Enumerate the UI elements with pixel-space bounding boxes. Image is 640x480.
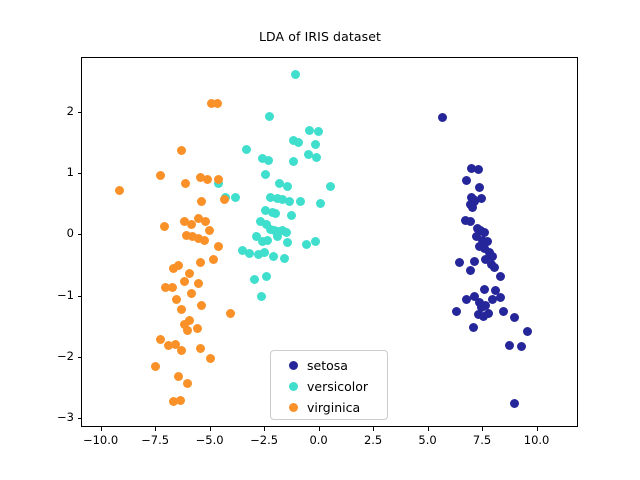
data-point-versicolor: [291, 70, 300, 79]
x-tick-label: 0.0: [289, 433, 349, 447]
data-point-virginica: [151, 362, 160, 371]
data-point-virginica: [187, 289, 196, 298]
data-point-setosa: [469, 323, 478, 332]
data-point-virginica: [174, 372, 183, 381]
y-tick-label: −3: [34, 410, 74, 424]
data-point-virginica: [226, 309, 235, 318]
data-point-virginica: [180, 277, 189, 286]
data-point-versicolor: [261, 170, 270, 179]
legend-box[interactable]: setosaversicolorvirginica: [270, 350, 388, 420]
data-point-virginica: [209, 255, 218, 264]
data-point-virginica: [183, 326, 192, 335]
data-point-virginica: [168, 283, 177, 292]
data-point-setosa: [438, 113, 447, 122]
data-point-versicolor: [282, 228, 291, 237]
y-tick-mark: [78, 357, 82, 358]
legend-marker-setosa: [289, 361, 298, 370]
x-tick-mark: [373, 427, 374, 431]
data-point-versicolor: [283, 182, 292, 191]
data-point-virginica: [197, 197, 206, 206]
data-point-setosa: [462, 176, 471, 185]
data-point-versicolor: [242, 145, 251, 154]
data-point-virginica: [115, 186, 124, 195]
data-point-setosa: [475, 183, 484, 192]
data-point-versicolor: [231, 193, 240, 202]
x-tick-label: −10.0: [71, 433, 131, 447]
data-point-versicolor: [283, 238, 292, 247]
data-point-versicolor: [311, 237, 320, 246]
y-tick-label: −1: [34, 288, 74, 302]
data-point-virginica: [177, 146, 186, 155]
data-point-virginica: [185, 269, 194, 278]
legend-item-virginica[interactable]: virginica: [279, 397, 379, 418]
y-tick-label: −2: [34, 349, 74, 363]
data-point-versicolor: [250, 275, 259, 284]
data-point-setosa: [474, 165, 483, 174]
data-point-versicolor: [314, 127, 323, 136]
x-tick-label: −7.5: [125, 433, 185, 447]
data-point-versicolor: [316, 199, 325, 208]
y-tick-mark: [78, 296, 82, 297]
x-tick-mark: [537, 427, 538, 431]
data-point-versicolor: [326, 182, 335, 191]
y-axis-ticks: −3−2−1012: [30, 0, 74, 480]
data-point-versicolor: [289, 157, 298, 166]
data-point-versicolor: [273, 232, 282, 241]
legend-item-setosa[interactable]: setosa: [279, 355, 379, 376]
data-point-versicolor: [287, 211, 296, 220]
x-tick-label: −2.5: [234, 433, 294, 447]
data-point-setosa: [466, 266, 475, 275]
x-tick-label: 5.0: [398, 433, 458, 447]
data-point-virginica: [164, 341, 173, 350]
matplotlib-figure: LDA of IRIS dataset −10.0−7.5−5.0−2.50.0…: [0, 0, 640, 480]
data-point-virginica: [160, 222, 169, 231]
legend-label-setosa: setosa: [307, 358, 348, 373]
x-tick-label: 10.0: [507, 433, 567, 447]
data-point-setosa: [496, 293, 505, 302]
x-tick-mark: [482, 427, 483, 431]
data-point-virginica: [214, 175, 223, 184]
data-point-setosa: [484, 309, 493, 318]
data-point-versicolor: [311, 140, 320, 149]
x-tick-label: 7.5: [452, 433, 512, 447]
data-point-setosa: [470, 257, 479, 266]
data-point-virginica: [172, 295, 181, 304]
x-tick-label: 2.5: [343, 433, 403, 447]
data-point-virginica: [177, 346, 186, 355]
data-point-versicolor: [262, 272, 271, 281]
legend-marker-virginica: [289, 403, 298, 412]
data-point-versicolor: [302, 240, 311, 249]
data-point-versicolor: [280, 254, 289, 263]
data-point-virginica: [203, 175, 212, 184]
y-tick-label: 0: [34, 226, 74, 240]
legend-marker-cell: [279, 361, 307, 370]
legend-marker-cell: [279, 403, 307, 412]
data-point-versicolor: [263, 236, 272, 245]
data-point-setosa: [510, 313, 519, 322]
data-point-virginica: [206, 354, 215, 363]
data-point-setosa: [505, 341, 514, 350]
data-point-virginica: [194, 279, 203, 288]
data-point-versicolor: [312, 153, 321, 162]
y-tick-label: 1: [34, 165, 74, 179]
x-tick-mark: [428, 427, 429, 431]
data-point-setosa: [480, 285, 489, 294]
data-point-virginica: [183, 379, 192, 388]
x-tick-mark: [264, 427, 265, 431]
data-point-setosa: [517, 342, 526, 351]
data-point-versicolor: [269, 252, 278, 261]
data-point-virginica: [177, 305, 186, 314]
data-point-versicolor: [296, 197, 305, 206]
data-point-versicolor: [305, 126, 314, 135]
y-tick-label: 2: [34, 104, 74, 118]
page-title: LDA of IRIS dataset: [0, 29, 640, 44]
data-point-virginica: [214, 242, 223, 251]
legend-label-virginica: virginica: [307, 400, 360, 415]
data-point-setosa: [523, 327, 532, 336]
data-point-virginica: [181, 179, 190, 188]
data-point-versicolor: [285, 197, 294, 206]
data-point-versicolor: [260, 248, 269, 257]
data-point-setosa: [490, 263, 499, 272]
data-point-versicolor: [257, 292, 266, 301]
y-tick-mark: [78, 173, 82, 174]
data-point-versicolor: [264, 156, 273, 165]
data-point-versicolor: [245, 249, 254, 258]
legend-items: setosaversicolorvirginica: [271, 351, 387, 418]
data-point-setosa: [468, 203, 477, 212]
legend-marker-versicolor: [289, 382, 298, 391]
data-point-virginica: [200, 236, 209, 245]
data-point-versicolor: [265, 112, 274, 121]
data-point-virginica: [156, 171, 165, 180]
data-point-setosa: [499, 307, 508, 316]
data-point-setosa: [510, 399, 519, 408]
y-tick-mark: [78, 234, 82, 235]
data-point-virginica: [169, 264, 178, 273]
legend-marker-cell: [279, 382, 307, 391]
data-point-setosa: [452, 307, 461, 316]
x-tick-mark: [101, 427, 102, 431]
data-point-virginica: [197, 301, 206, 310]
y-tick-mark: [78, 418, 82, 419]
legend-label-versicolor: versicolor: [307, 379, 368, 394]
x-tick-mark: [319, 427, 320, 431]
data-point-setosa: [455, 258, 464, 267]
data-point-virginica: [196, 344, 205, 353]
x-tick-mark: [210, 427, 211, 431]
data-point-virginica: [220, 195, 229, 204]
data-point-virginica: [205, 226, 214, 235]
data-point-virginica: [213, 99, 222, 108]
data-point-versicolor: [294, 138, 303, 147]
data-point-setosa: [477, 194, 486, 203]
data-point-setosa: [496, 272, 505, 281]
data-point-virginica: [176, 396, 185, 405]
x-tick-label: −5.0: [180, 433, 240, 447]
data-point-versicolor: [271, 209, 280, 218]
y-tick-mark: [78, 112, 82, 113]
x-tick-mark: [155, 427, 156, 431]
data-point-virginica: [193, 324, 202, 333]
legend-item-versicolor[interactable]: versicolor: [279, 376, 379, 397]
data-point-virginica: [196, 258, 205, 267]
